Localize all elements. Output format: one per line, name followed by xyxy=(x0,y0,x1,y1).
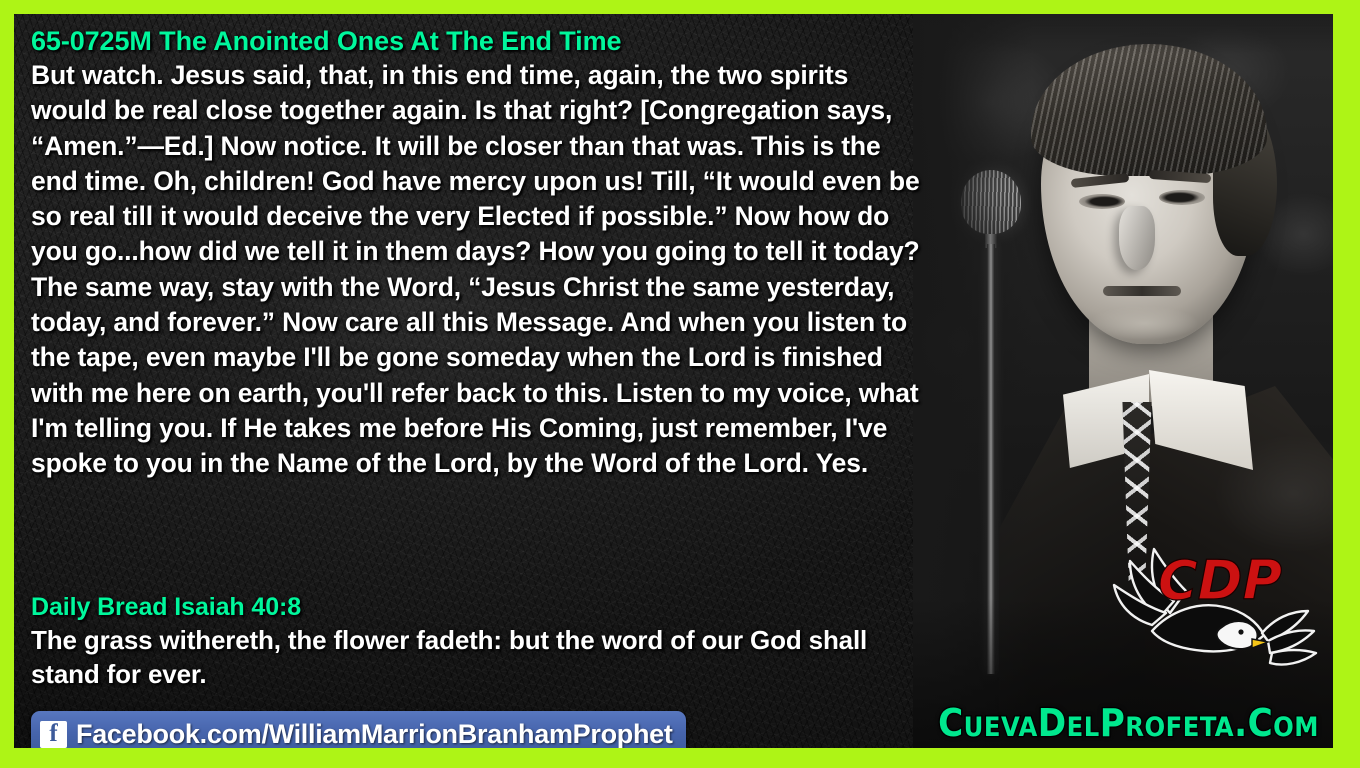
facebook-icon-letter: f xyxy=(49,721,57,746)
quote-line: But watch. Jesus said, that, in this end… xyxy=(31,58,936,93)
eye-left xyxy=(1079,194,1125,209)
sermon-text-block: 65-0725M The Anointed Ones At The End Ti… xyxy=(31,26,936,482)
quote-line: “Amen.”—Ed.] Now notice. It will be clos… xyxy=(31,129,936,164)
site-brand-text: CuevaDelProfeta.Com xyxy=(938,702,1319,744)
quote-line: I'm telling you. If He takes me before H… xyxy=(31,411,936,446)
facebook-link-badge[interactable]: f Facebook.com/WilliamMarrionBranhamProp… xyxy=(31,711,686,748)
sermon-title: 65-0725M The Anointed Ones At The End Ti… xyxy=(31,26,936,57)
site-brand: CuevaDelProfeta.Com xyxy=(938,702,1319,744)
cdp-initials: CDP xyxy=(1158,549,1282,612)
scripture-block: Daily Bread Isaiah 40:8 The grass wither… xyxy=(31,592,936,691)
mouth xyxy=(1103,286,1181,296)
quote-line: today, and forever.” Now care all this M… xyxy=(31,305,936,340)
chin-shadow xyxy=(1089,306,1199,340)
card-inner-panel: 65-0725M The Anointed Ones At The End Ti… xyxy=(14,14,1333,748)
quote-line: end time. Oh, children! God have mercy u… xyxy=(31,164,936,199)
quote-line: spoke to you in the Name of the Lord, by… xyxy=(31,446,936,481)
facebook-url-label: Facebook.com/WilliamMarrionBranhamProphe… xyxy=(76,719,673,748)
quote-line: The same way, stay with the Word, “Jesus… xyxy=(31,270,936,305)
cdp-dove-logo: CDP xyxy=(1112,535,1327,670)
dove-eye xyxy=(1238,629,1243,634)
quote-line: so real till it would deceive the very E… xyxy=(31,199,936,234)
quote-line: the tape, even maybe I'll be gone someda… xyxy=(31,340,936,375)
quote-card: 65-0725M The Anointed Ones At The End Ti… xyxy=(0,0,1360,768)
quote-line: would be real close together again. Is t… xyxy=(31,93,936,128)
scripture-reference: Daily Bread Isaiah 40:8 xyxy=(31,592,936,622)
eye-right xyxy=(1159,190,1205,205)
quote-line: with me here on earth, you'll refer back… xyxy=(31,376,936,411)
scripture-line: stand for ever. xyxy=(31,657,936,691)
sermon-quote: But watch. Jesus said, that, in this end… xyxy=(31,58,936,482)
facebook-icon: f xyxy=(40,721,67,748)
nose xyxy=(1119,206,1155,270)
scripture-line: The grass withereth, the flower fadeth: … xyxy=(31,623,936,657)
scripture-text: The grass withereth, the flower fadeth: … xyxy=(31,623,936,691)
quote-line: you go...how did we tell it in them days… xyxy=(31,234,936,269)
photo-top-fade xyxy=(913,14,1333,54)
